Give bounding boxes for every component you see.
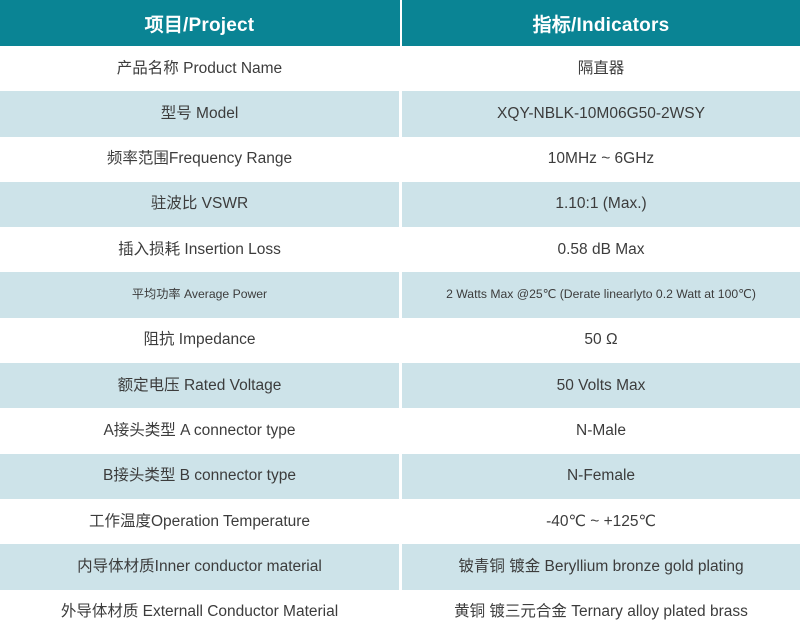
cell-indicator: 10MHz ~ 6GHz	[402, 137, 800, 182]
cell-indicator: XQY-NBLK-10M06G50-2WSY	[402, 91, 800, 136]
header-column-divider	[399, 0, 402, 46]
cell-project: 工作温度Operation Temperature	[0, 499, 399, 544]
table-header-row: 项目/Project 指标/Indicators	[0, 0, 800, 46]
cell-project: 阻抗 Impedance	[0, 318, 399, 363]
table-row: A接头类型 A connector typeN-Male	[0, 408, 800, 453]
table-row: B接头类型 B connector typeN-Female	[0, 454, 800, 499]
cell-indicator: 50 Ω	[402, 318, 800, 363]
cell-indicator: N-Female	[402, 454, 800, 499]
product-specification-table: 项目/Project 指标/Indicators 产品名称 Product Na…	[0, 0, 800, 635]
cell-indicator: 2 Watts Max @25℃ (Derate linearlyto 0.2 …	[402, 272, 800, 317]
cell-project: 外导体材质 Externall Conductor Material	[0, 590, 399, 635]
table-row: 内导体材质Inner conductor material铍青铜 镀金 Bery…	[0, 544, 800, 589]
table-body: 产品名称 Product Name隔直器型号 ModelXQY-NBLK-10M…	[0, 46, 800, 635]
cell-project: 型号 Model	[0, 91, 399, 136]
cell-project: 插入损耗 Insertion Loss	[0, 227, 399, 272]
cell-indicator: -40℃ ~ +125℃	[402, 499, 800, 544]
table-row: 外导体材质 Externall Conductor Material黄铜 镀三元…	[0, 590, 800, 635]
cell-project: 产品名称 Product Name	[0, 46, 399, 91]
cell-indicator: 1.10:1 (Max.)	[402, 182, 800, 227]
table-row: 插入损耗 Insertion Loss0.58 dB Max	[0, 227, 800, 272]
cell-indicator: 0.58 dB Max	[402, 227, 800, 272]
column-header-indicators: 指标/Indicators	[402, 0, 800, 46]
cell-project: A接头类型 A connector type	[0, 408, 399, 453]
table-row: 型号 ModelXQY-NBLK-10M06G50-2WSY	[0, 91, 800, 136]
cell-project: 平均功率 Average Power	[0, 272, 399, 317]
cell-indicator: 隔直器	[402, 46, 800, 91]
table-row: 平均功率 Average Power2 Watts Max @25℃ (Dera…	[0, 272, 800, 317]
cell-project: B接头类型 B connector type	[0, 454, 399, 499]
cell-indicator: 50 Volts Max	[402, 363, 800, 408]
cell-project: 内导体材质Inner conductor material	[0, 544, 399, 589]
cell-indicator: 铍青铜 镀金 Beryllium bronze gold plating	[402, 544, 800, 589]
cell-indicator: N-Male	[402, 408, 800, 453]
header-divider-line	[400, 0, 402, 46]
table-row: 驻波比 VSWR1.10:1 (Max.)	[0, 182, 800, 227]
table-row: 阻抗 Impedance50 Ω	[0, 318, 800, 363]
table-row: 频率范围Frequency Range10MHz ~ 6GHz	[0, 137, 800, 182]
table-row: 产品名称 Product Name隔直器	[0, 46, 800, 91]
table-row: 额定电压 Rated Voltage50 Volts Max	[0, 363, 800, 408]
cell-project: 驻波比 VSWR	[0, 182, 399, 227]
table-row: 工作温度Operation Temperature-40℃ ~ +125℃	[0, 499, 800, 544]
table-header: 项目/Project 指标/Indicators	[0, 0, 800, 46]
column-header-project: 项目/Project	[0, 0, 399, 46]
cell-indicator: 黄铜 镀三元合金 Ternary alloy plated brass	[402, 590, 800, 635]
cell-project: 额定电压 Rated Voltage	[0, 363, 399, 408]
cell-project: 频率范围Frequency Range	[0, 137, 399, 182]
